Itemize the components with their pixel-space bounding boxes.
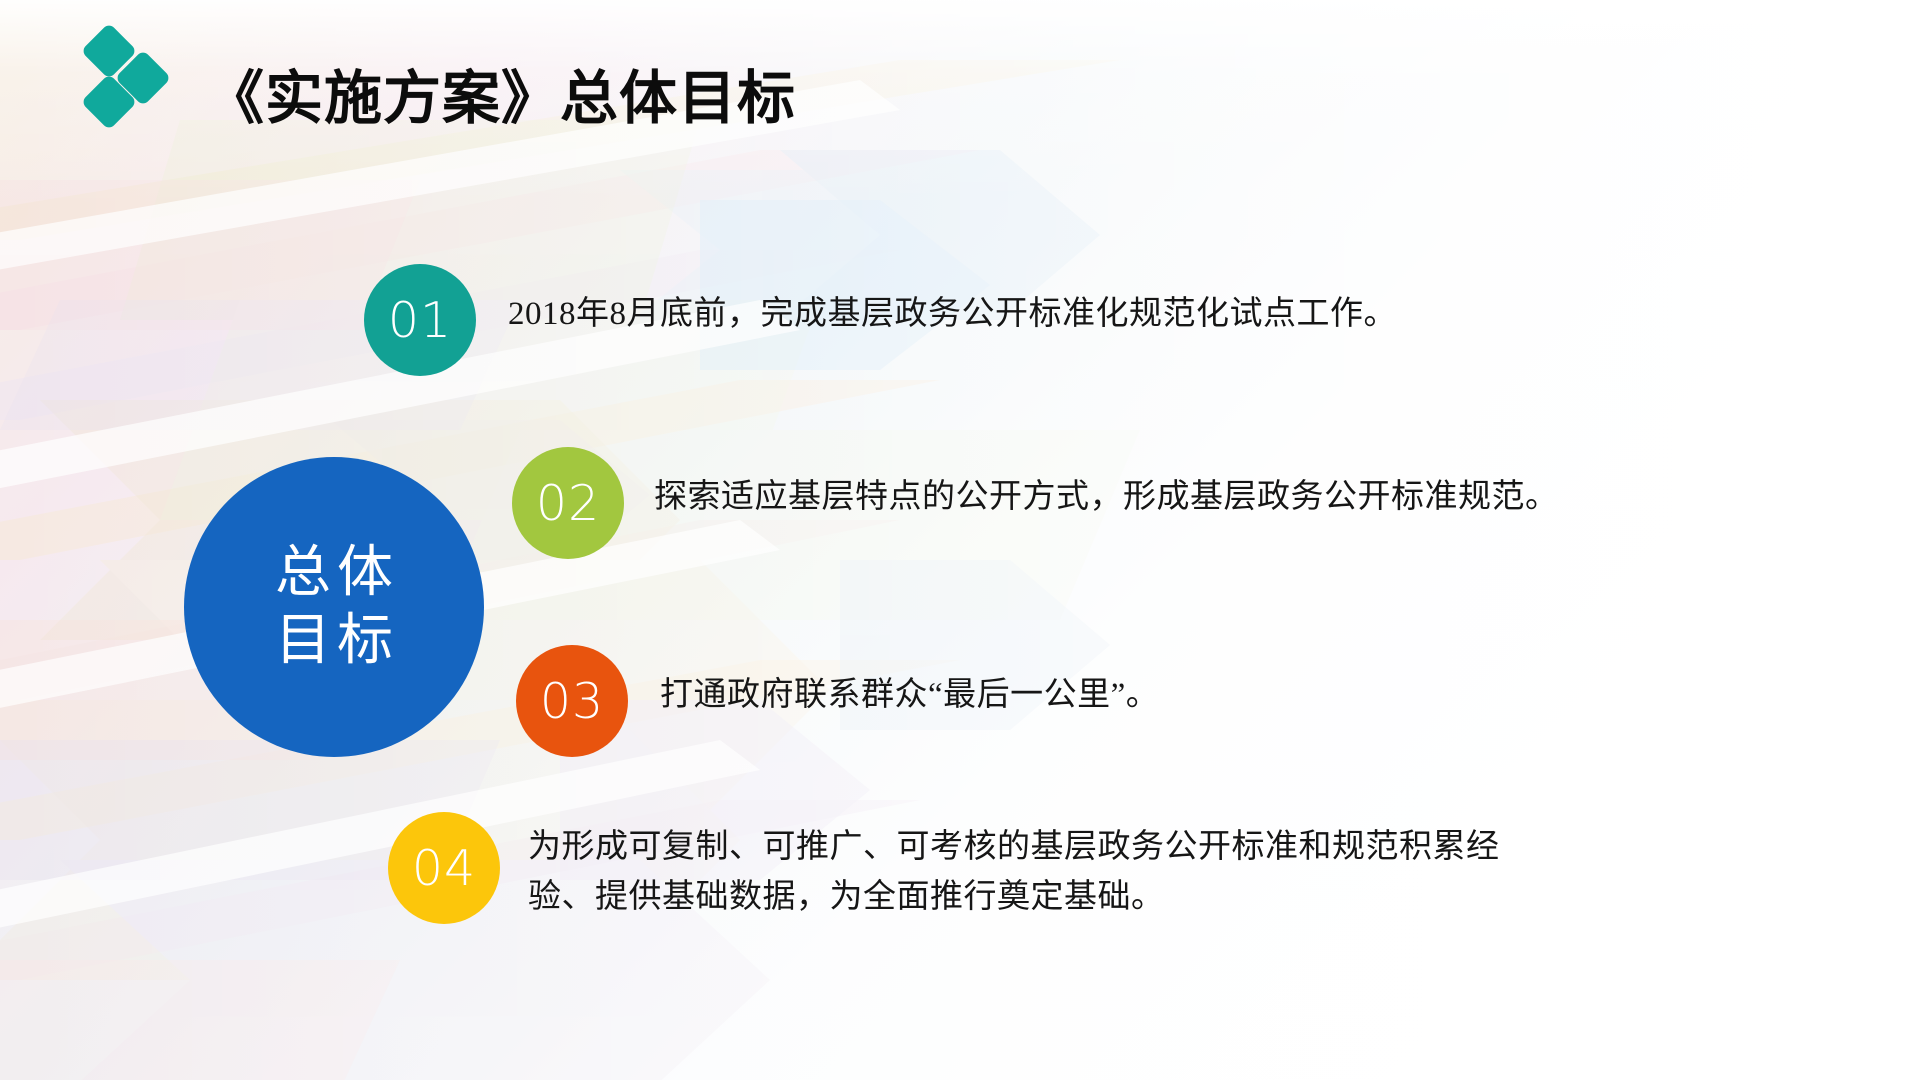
slide-header: 《实施方案》总体目标 <box>0 0 1920 150</box>
hub-label-line-1: 总体 <box>269 539 399 607</box>
hub-circle-overall-goal: 总体 目标 <box>184 457 484 757</box>
goal-badge-04: 04 <box>388 812 500 924</box>
goal-item-04: 04 为形成可复制、可推广、可考核的基层政务公开标准和规范积累经 验、提供基础数… <box>388 812 1500 924</box>
goal-item-02: 02 探索适应基层特点的公开方式，形成基层政务公开标准规范。 <box>512 447 1559 559</box>
page-title: 《实施方案》总体目标 <box>206 67 796 131</box>
goal-badge-01: 01 <box>364 264 476 376</box>
goal-text-03: 打通政府联系群众“最后一公里”。 <box>660 670 1159 720</box>
diamond-cluster-icon <box>88 30 170 118</box>
goal-badge-03: 03 <box>516 645 628 757</box>
goal-text-04: 为形成可复制、可推广、可考核的基层政务公开标准和规范积累经 验、提供基础数据，为… <box>528 822 1500 922</box>
slide-canvas: 《实施方案》总体目标 总体 目标 01 2018年8月底前，完成基层政务公开标准… <box>0 0 1920 1080</box>
goal-text-01: 2018年8月底前，完成基层政务公开标准化规范化试点工作。 <box>508 289 1397 339</box>
goal-item-03: 03 打通政府联系群众“最后一公里”。 <box>516 645 1159 757</box>
goal-badge-02: 02 <box>512 447 624 559</box>
goal-text-02: 探索适应基层特点的公开方式，形成基层政务公开标准规范。 <box>654 472 1559 522</box>
goal-item-01: 01 2018年8月底前，完成基层政务公开标准化规范化试点工作。 <box>364 264 1397 376</box>
hub-label-line-2: 目标 <box>269 607 399 675</box>
